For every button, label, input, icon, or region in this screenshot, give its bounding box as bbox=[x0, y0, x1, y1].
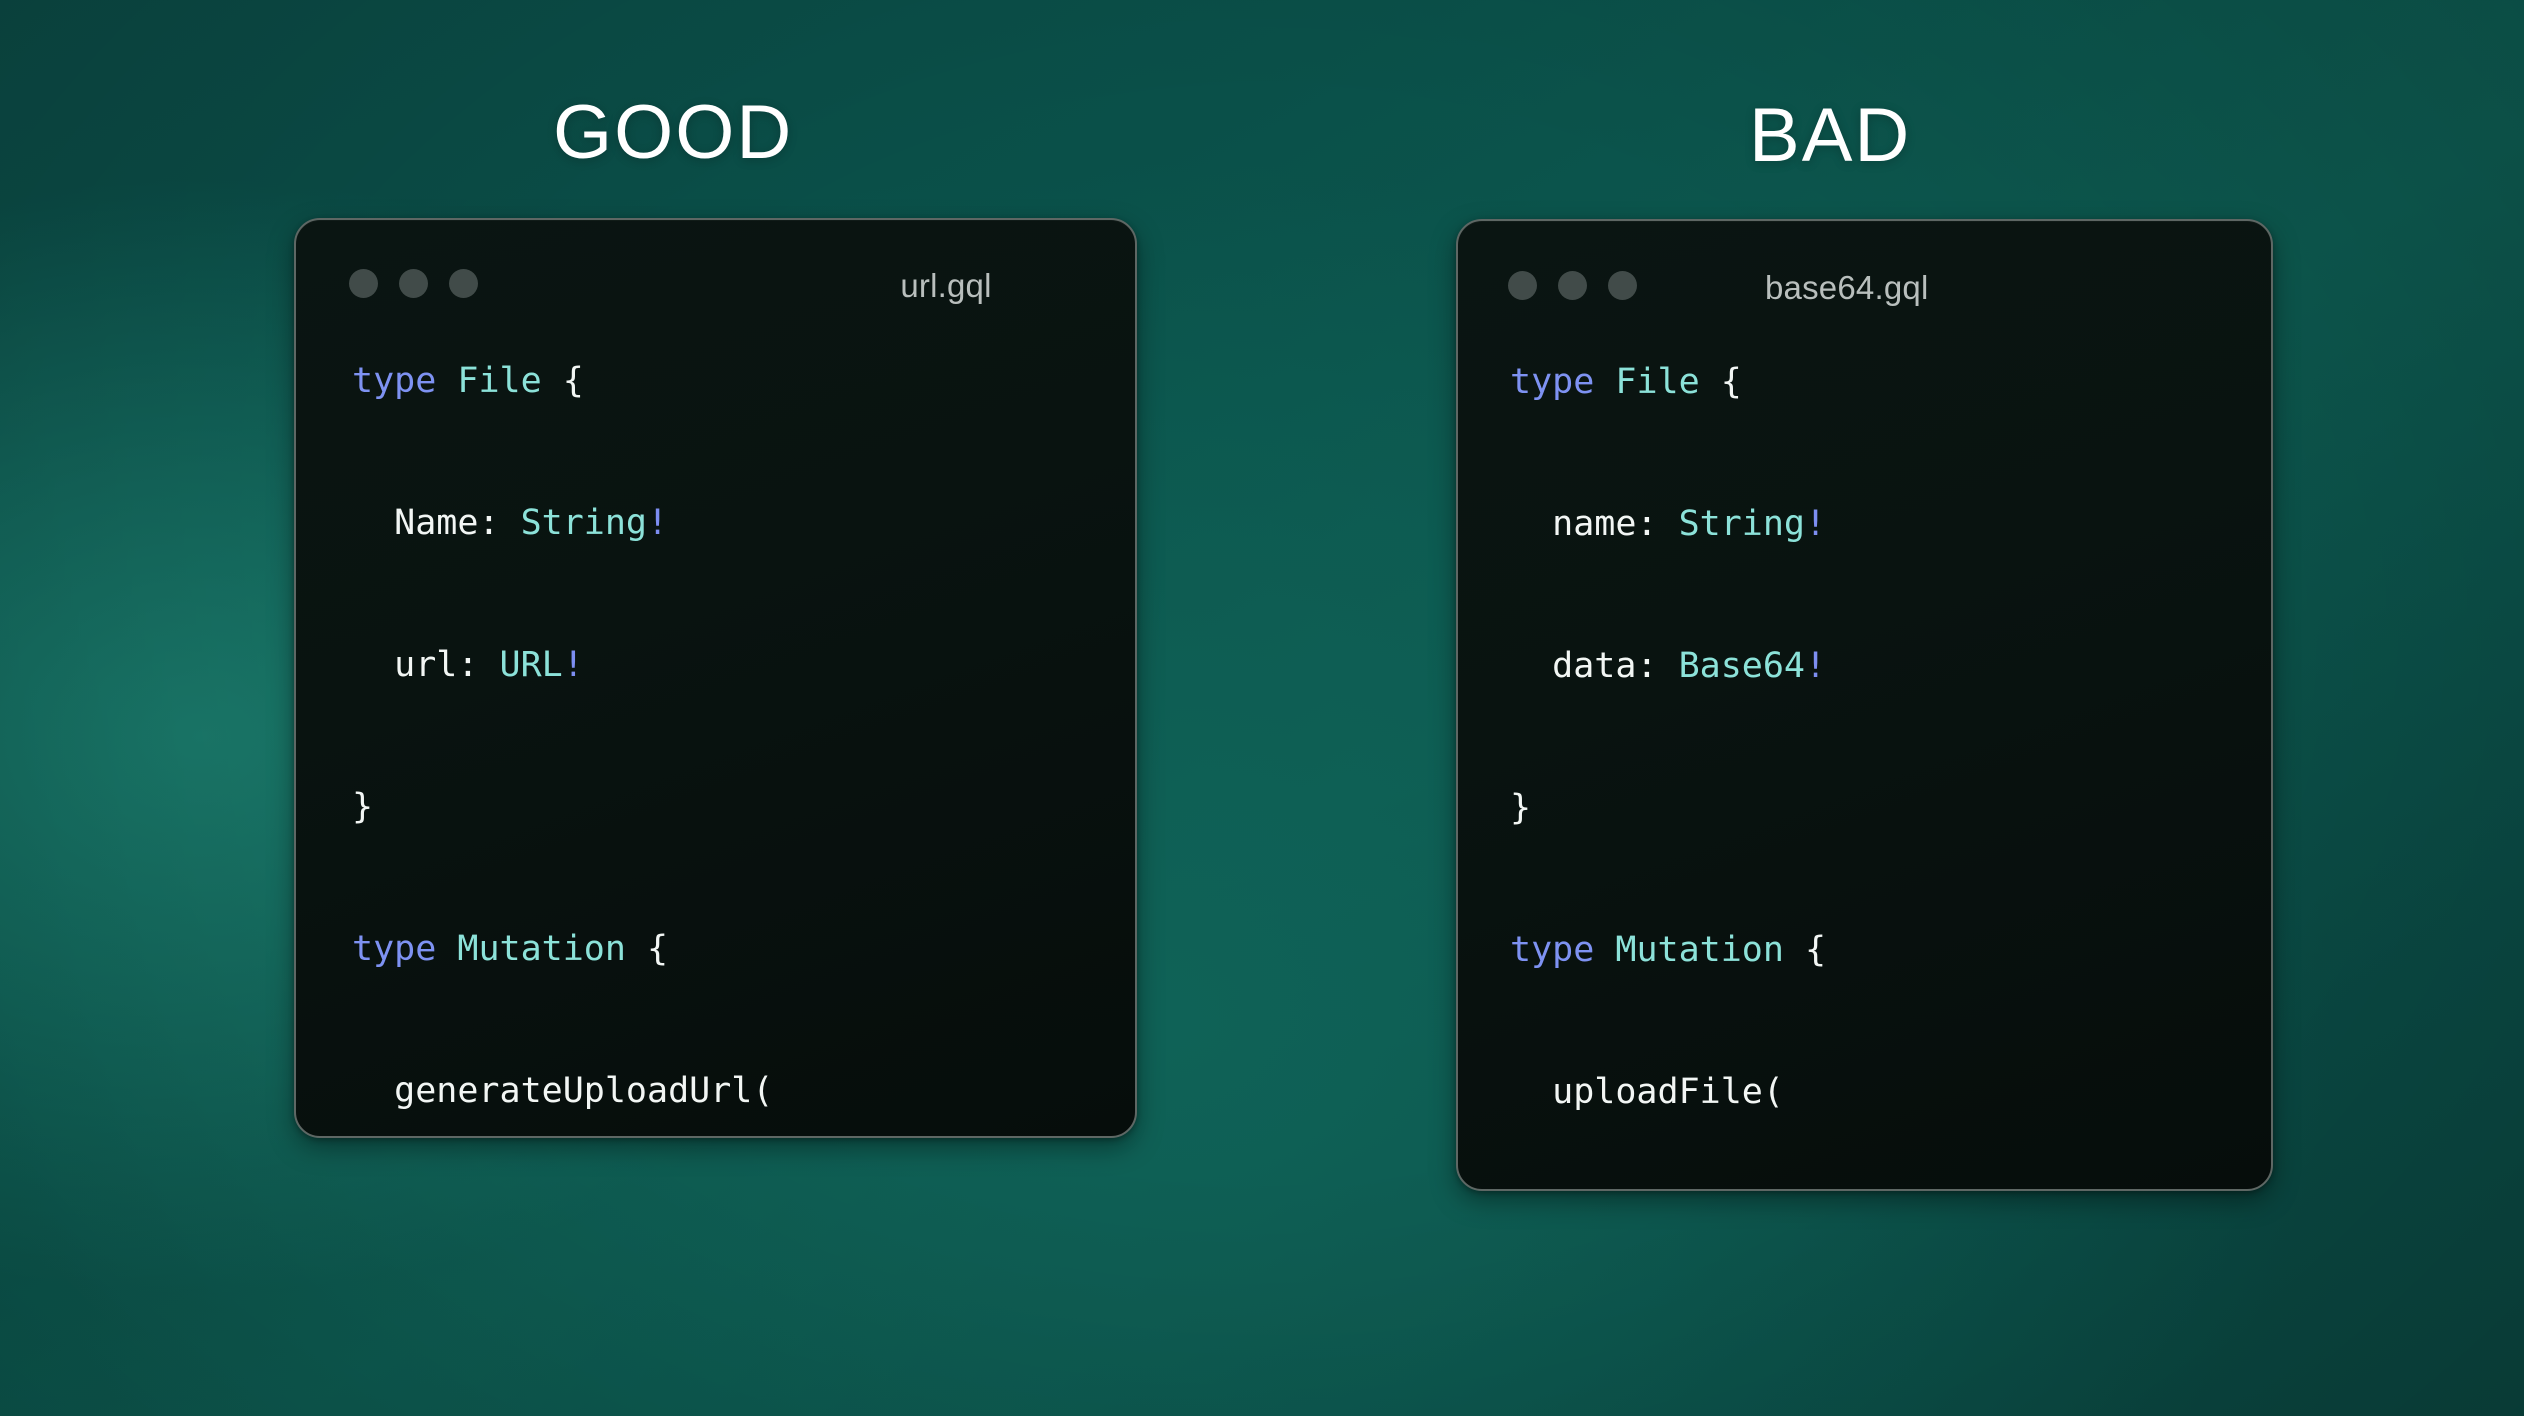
window-filename-bad: base64.gql bbox=[1765, 269, 1928, 307]
code-token-plain: } bbox=[352, 787, 373, 827]
window-controls-good[interactable] bbox=[349, 269, 478, 298]
comparison-stage: GOOD url.gql type File { Name: String! u… bbox=[0, 0, 2524, 1416]
code-token-plain: { bbox=[626, 929, 668, 969]
code-content-good: type File { Name: String! url: URL! } ty… bbox=[296, 328, 1135, 1138]
code-token-type: String bbox=[1679, 504, 1805, 544]
window-dot-maximize-icon[interactable] bbox=[449, 269, 478, 298]
code-token-plain: data: bbox=[1510, 646, 1679, 686]
code-token-kw: type bbox=[352, 361, 436, 401]
code-line: uploadFile( bbox=[1510, 1057, 2271, 1128]
code-token-bang: ! bbox=[1805, 504, 1826, 544]
code-token-plain bbox=[1594, 362, 1615, 402]
column-title-bad: BAD bbox=[1749, 98, 1911, 174]
code-token-plain bbox=[436, 361, 457, 401]
code-token-plain: name: bbox=[1510, 504, 1679, 544]
code-token-type: Base64 bbox=[1679, 646, 1805, 686]
code-token-kw: type bbox=[1510, 930, 1594, 970]
code-token-plain: { bbox=[1784, 930, 1826, 970]
code-token-plain: { bbox=[1700, 362, 1742, 402]
window-dot-maximize-icon[interactable] bbox=[1608, 271, 1637, 300]
window-controls-bad[interactable] bbox=[1508, 271, 1637, 300]
code-token-plain: uploadFile( bbox=[1510, 1072, 1784, 1112]
code-token-plain: { bbox=[542, 361, 584, 401]
code-line: } bbox=[352, 772, 1135, 843]
code-token-kw: type bbox=[352, 929, 436, 969]
code-token-bang: ! bbox=[563, 645, 584, 685]
code-line: type Mutation { bbox=[1510, 915, 2271, 986]
code-line: type File { bbox=[1510, 347, 2271, 418]
window-titlebar-good: url.gql bbox=[296, 220, 1135, 328]
code-token-plain: url: bbox=[352, 645, 500, 685]
code-token-type: Mutation bbox=[457, 929, 626, 969]
code-token-plain bbox=[1594, 930, 1615, 970]
code-token-type: String bbox=[521, 503, 647, 543]
code-token-plain: } bbox=[1510, 788, 1531, 828]
code-token-type: File bbox=[457, 361, 541, 401]
code-line: type File { bbox=[352, 346, 1135, 417]
code-token-plain: Name: bbox=[352, 503, 521, 543]
window-titlebar-bad: base64.gql bbox=[1458, 221, 2271, 329]
code-token-bang: ! bbox=[1805, 646, 1826, 686]
code-token-plain: generateUploadUrl( bbox=[352, 1071, 773, 1111]
window-filename-good: url.gql bbox=[900, 267, 991, 305]
code-line: url: URL! bbox=[352, 630, 1135, 701]
code-token-kw: type bbox=[1510, 362, 1594, 402]
code-line: } bbox=[1510, 773, 2271, 844]
code-line: generateUploadUrl( bbox=[352, 1056, 1135, 1127]
code-window-bad[interactable]: base64.gql type File { name: String! dat… bbox=[1456, 219, 2273, 1191]
code-token-type: URL bbox=[500, 645, 563, 685]
code-token-bang: ! bbox=[647, 503, 668, 543]
code-line: name: String! bbox=[1510, 489, 2271, 560]
code-token-type: Mutation bbox=[1615, 930, 1784, 970]
code-window-good[interactable]: url.gql type File { Name: String! url: U… bbox=[294, 218, 1137, 1138]
code-content-bad: type File { name: String! data: Base64! … bbox=[1458, 329, 2271, 1191]
window-dot-close-icon[interactable] bbox=[1508, 271, 1537, 300]
code-line: Name: String! bbox=[352, 488, 1135, 559]
column-title-good: GOOD bbox=[553, 95, 793, 171]
code-token-type: File bbox=[1615, 362, 1699, 402]
code-token-plain bbox=[436, 929, 457, 969]
window-dot-minimize-icon[interactable] bbox=[399, 269, 428, 298]
window-dot-minimize-icon[interactable] bbox=[1558, 271, 1587, 300]
window-dot-close-icon[interactable] bbox=[349, 269, 378, 298]
code-line: type Mutation { bbox=[352, 914, 1135, 985]
code-line: data: Base64! bbox=[1510, 631, 2271, 702]
